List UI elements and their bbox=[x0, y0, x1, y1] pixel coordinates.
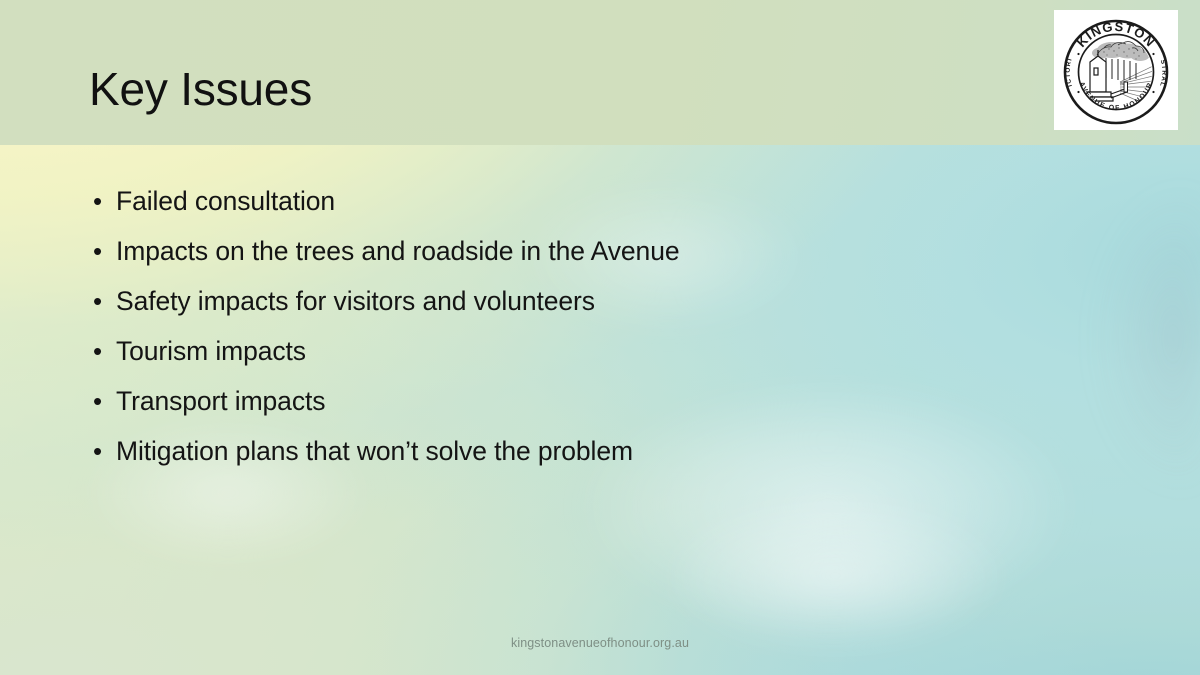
presentation-slide: Key Issues bbox=[0, 0, 1200, 675]
bullet-marker-icon: • bbox=[93, 329, 116, 373]
list-item: • Safety impacts for visitors and volunt… bbox=[93, 279, 1093, 329]
bullet-marker-icon: • bbox=[93, 229, 116, 273]
bullet-marker-icon: • bbox=[93, 379, 116, 423]
list-item-label: Tourism impacts bbox=[116, 329, 306, 373]
key-issues-bullet-list: • Failed consultation • Impacts on the t… bbox=[93, 179, 1093, 479]
page-title: Key Issues bbox=[89, 66, 312, 112]
list-item: • Transport impacts bbox=[93, 379, 1093, 429]
list-item-label: Mitigation plans that won’t solve the pr… bbox=[116, 429, 633, 473]
kingston-avenue-of-honour-logo: KINGSTON AVENUE OF HONOUR VICTORIA AUSTR… bbox=[1054, 10, 1178, 130]
list-item-label: Safety impacts for visitors and voluntee… bbox=[116, 279, 595, 323]
bullet-marker-icon: • bbox=[93, 429, 116, 473]
seal-icon: KINGSTON AVENUE OF HONOUR VICTORIA AUSTR… bbox=[1054, 10, 1178, 130]
list-item-label: Transport impacts bbox=[116, 379, 325, 423]
list-item-label: Failed consultation bbox=[116, 179, 335, 223]
footer-website-url: kingstonavenueofhonour.org.au bbox=[0, 635, 1200, 651]
list-item-label: Impacts on the trees and roadside in the… bbox=[116, 229, 679, 273]
list-item: • Tourism impacts bbox=[93, 329, 1093, 379]
list-item: • Mitigation plans that won’t solve the … bbox=[93, 429, 1093, 479]
bullet-marker-icon: • bbox=[93, 179, 116, 223]
list-item: • Impacts on the trees and roadside in t… bbox=[93, 229, 1093, 279]
bullet-marker-icon: • bbox=[93, 279, 116, 323]
list-item: • Failed consultation bbox=[93, 179, 1093, 229]
